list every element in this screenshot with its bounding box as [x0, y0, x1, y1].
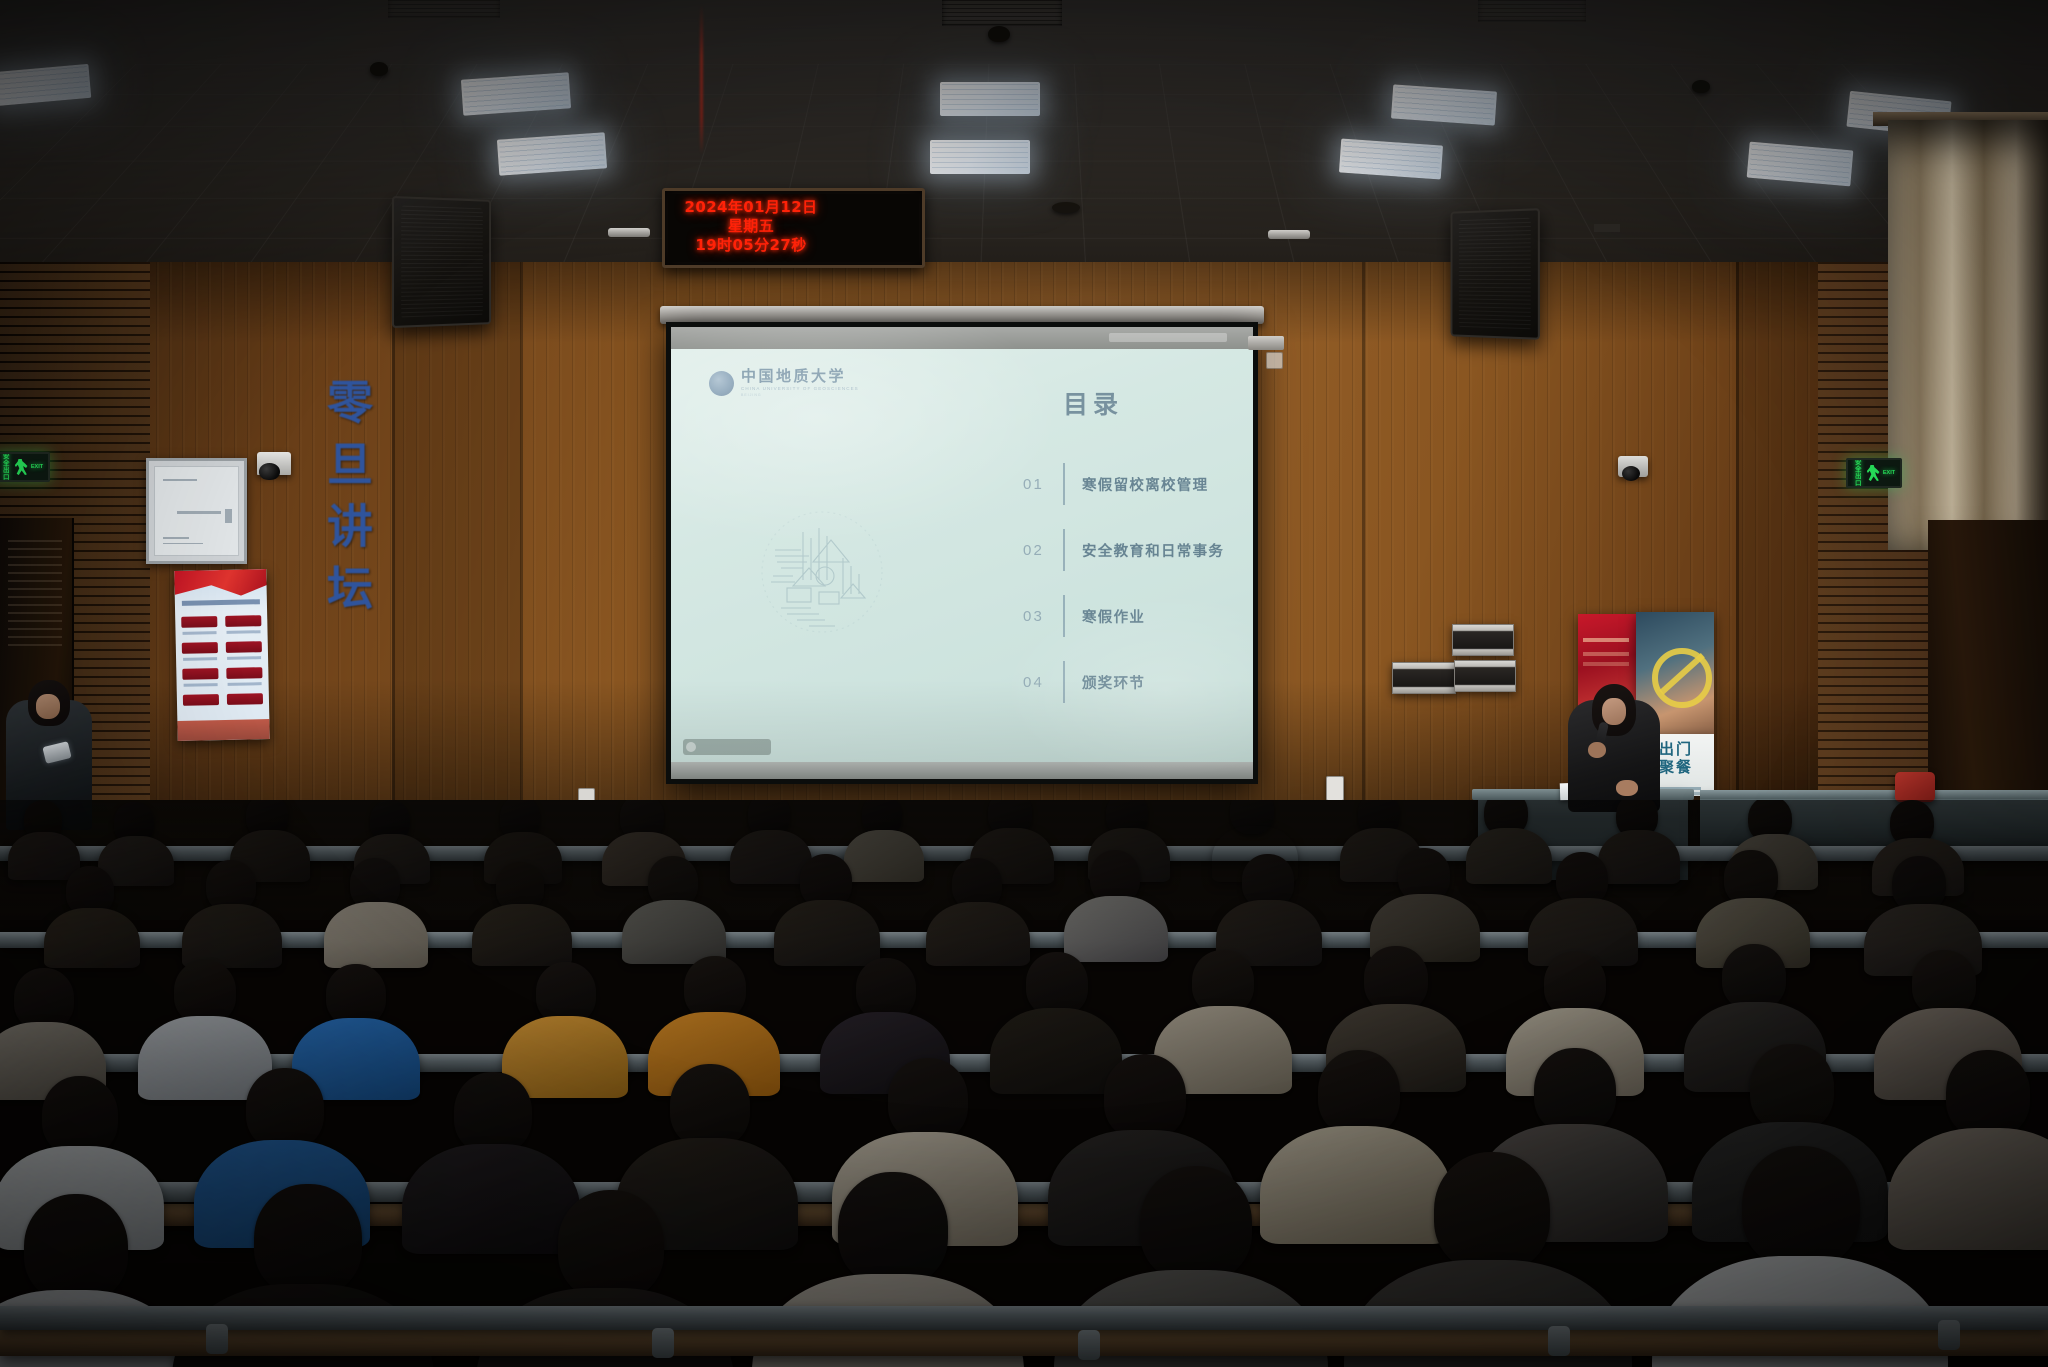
standing-person-face — [36, 694, 60, 719]
audience-head — [558, 1190, 664, 1300]
door-ventilation-grille — [8, 540, 62, 650]
led-line-time: 19时05分27秒 — [676, 236, 826, 255]
notice-text-line — [163, 543, 203, 544]
poster-red-flag-header — [174, 569, 267, 597]
audience-head — [24, 1194, 128, 1302]
led-clock-display: 2024年01月12日 星期五 19时05分27秒 — [662, 188, 925, 268]
toc-number: 03 — [1023, 608, 1057, 625]
notice-scrollbar — [225, 509, 232, 523]
wall-control-panel-upper[interactable] — [1452, 624, 1514, 656]
notice-board-inner — [154, 466, 239, 556]
ceiling-shading — [0, 0, 2048, 300]
poster-section-chip — [181, 616, 217, 628]
toc-number: 02 — [1023, 542, 1057, 559]
desk-row-e-front — [0, 1330, 2048, 1356]
toc-label: 寒假作业 — [1082, 606, 1145, 627]
wall-calligraphy-banner: 零旦讲坛 — [316, 378, 378, 626]
university-name-en-sub: BEIJING — [741, 394, 859, 398]
audience-shoulders — [324, 902, 428, 968]
toc-label: 安全教育和日常事务 — [1082, 540, 1224, 561]
slide-chrome-hint — [1109, 333, 1227, 342]
toc-label: 寒假留校离校管理 — [1082, 474, 1208, 495]
notice-text-line — [163, 537, 189, 539]
wall-speaker-left — [392, 196, 491, 328]
university-logo-text: 中国地质大学 CHINA UNIVERSITY OF GEOSCIENCES B… — [741, 369, 859, 397]
toc-item: 04 颁奖环节 — [1023, 649, 1233, 715]
poster-footer-band — [177, 719, 269, 741]
wall-seam — [1362, 262, 1365, 842]
audience-head — [1140, 1166, 1252, 1282]
slide-window-chrome — [671, 327, 1253, 349]
audience-head — [1742, 1146, 1860, 1268]
ceiling — [0, 0, 2048, 300]
projector-bracket — [1268, 230, 1310, 239]
led-line-weekday: 星期五 — [676, 217, 826, 236]
projector-bracket — [608, 228, 650, 237]
toc-divider — [1063, 595, 1065, 637]
university-name-cn: 中国地质大学 — [741, 369, 859, 384]
university-name-en: CHINA UNIVERSITY OF GEOSCIENCES — [741, 387, 859, 392]
prohibition-icon — [1652, 648, 1712, 708]
university-emblem-icon — [709, 371, 734, 396]
audience-head — [1026, 952, 1088, 1016]
slide-table-of-contents: 01 寒假留校离校管理 02 安全教育和日常事务 03 寒假作业 04 — [1023, 451, 1233, 715]
audience-head — [174, 960, 236, 1024]
slide-bottom-chrome — [671, 762, 1253, 779]
audience-shoulders — [990, 1008, 1122, 1094]
led-line-date: 2024年01月12日 — [676, 198, 826, 217]
audience-head — [454, 1072, 532, 1154]
audience-shoulders — [472, 904, 572, 966]
wall-seam — [520, 262, 523, 842]
toc-divider — [1063, 463, 1065, 505]
poster-body-line — [228, 682, 262, 686]
audience-shoulders — [402, 1144, 580, 1254]
wall-light-switch[interactable] — [1326, 776, 1344, 801]
presentation-slide: 中国地质大学 CHINA UNIVERSITY OF GEOSCIENCES B… — [671, 327, 1253, 779]
audience-shoulders — [182, 904, 282, 968]
toc-divider — [1063, 661, 1065, 703]
exit-sign-left: 安全出口 EXIT — [0, 452, 50, 482]
audience-shoulders — [622, 900, 726, 964]
exit-sign-label-en: EXIT — [31, 464, 43, 470]
notice-text-line — [163, 479, 197, 481]
presenter-hand-on-papers — [1616, 780, 1638, 796]
audience-head — [1534, 1048, 1616, 1134]
exit-sign-label-cn: 安全出口 — [1, 453, 12, 481]
wall-notice-board — [146, 458, 247, 564]
audience-head — [1912, 950, 1976, 1016]
wall-outlet[interactable] — [1266, 352, 1283, 369]
toc-number: 04 — [1023, 674, 1057, 691]
poster-section-chip — [182, 668, 218, 680]
toc-item: 01 寒假留校离校管理 — [1023, 451, 1233, 517]
audience-head — [1318, 1050, 1400, 1136]
poster-title-bar — [182, 599, 260, 606]
notice-text-line — [177, 511, 221, 514]
audience-head — [1192, 950, 1254, 1014]
wall-panel-shade — [392, 262, 520, 842]
poster-body-line — [183, 631, 217, 635]
poster-body-line — [226, 630, 260, 634]
audience-head — [670, 1064, 750, 1148]
poster-section-chip — [227, 693, 263, 705]
window-curtain — [1888, 120, 2048, 550]
led-screen-face: 2024年01月12日 星期五 19时05分27秒 — [668, 194, 919, 262]
seat-bracket — [652, 1328, 674, 1358]
poster-body-line — [227, 656, 261, 660]
audience-shoulders — [1466, 828, 1552, 884]
poster-body-line — [183, 657, 217, 661]
red-bag-on-bench — [1895, 772, 1935, 802]
projector-ceiling-mount — [1248, 336, 1284, 350]
wall-control-panel-lower-left[interactable] — [1392, 662, 1456, 694]
wall-poster-left — [174, 569, 270, 741]
audience-shoulders — [8, 832, 80, 880]
lecture-hall-photo: 2024年01月12日 星期五 19时05分27秒 中国地质大学 CHINA U… — [0, 0, 2048, 1367]
university-logo: 中国地质大学 CHINA UNIVERSITY OF GEOSCIENCES B… — [709, 369, 859, 397]
poster-section-chip — [226, 641, 262, 653]
audience-head — [856, 958, 916, 1020]
presenter-hand-holding-mic — [1588, 742, 1606, 758]
audience-head — [1364, 946, 1428, 1012]
toc-label: 颁奖环节 — [1082, 672, 1145, 693]
audience-head — [536, 962, 596, 1024]
audience-shoulders — [44, 908, 140, 968]
audience-shoulders — [1064, 896, 1168, 962]
front-bench-right-top — [1700, 790, 2048, 799]
wall-control-panel-lower-right[interactable] — [1454, 660, 1516, 692]
toc-item: 02 安全教育和日常事务 — [1023, 517, 1233, 583]
audience-head — [1544, 952, 1606, 1016]
poster-section-chip — [183, 694, 219, 706]
slide-decorative-illustration — [757, 502, 887, 642]
audience-head — [254, 1184, 362, 1296]
audience-head — [1750, 1044, 1834, 1132]
toc-divider — [1063, 529, 1065, 571]
security-camera-right — [1618, 456, 1648, 477]
audience-shoulders — [1888, 1128, 2048, 1250]
audience-shoulders — [926, 902, 1030, 966]
audience-shoulders — [844, 830, 924, 882]
poster-body-line — [184, 683, 218, 687]
seat-bracket — [1078, 1330, 1100, 1360]
audience-head — [246, 1068, 324, 1150]
audience-head — [838, 1172, 948, 1286]
running-man-icon — [1867, 465, 1880, 481]
running-man-icon — [15, 459, 28, 475]
audience-shoulders — [1260, 1126, 1452, 1244]
toc-item: 03 寒假作业 — [1023, 583, 1233, 649]
seat-bracket — [1938, 1320, 1960, 1350]
audience-head — [1946, 1050, 2030, 1138]
audience-head — [326, 964, 386, 1026]
security-camera-left — [257, 452, 291, 475]
presenter-face — [1602, 698, 1626, 725]
bench-row-e — [0, 1306, 2048, 1330]
seat-bracket — [1548, 1326, 1570, 1356]
poster-section-chip — [226, 667, 262, 679]
audience-shoulders — [774, 900, 880, 966]
toc-number: 01 — [1023, 476, 1057, 493]
audience-head — [888, 1058, 968, 1142]
audience-seating: DORAEMON Richmond — [0, 800, 2048, 1367]
speaker-bracket — [1594, 224, 1620, 232]
poster-section-chip — [182, 642, 218, 654]
audience-head — [684, 956, 746, 1020]
exit-sign-label-cn: 安全出口 — [1853, 459, 1864, 487]
projection-screen[interactable]: 中国地质大学 CHINA UNIVERSITY OF GEOSCIENCES B… — [666, 322, 1258, 784]
audience-head — [1434, 1152, 1550, 1272]
audience-head — [1104, 1054, 1186, 1140]
exit-sign-label-en: EXIT — [1883, 470, 1895, 476]
seat-bracket — [206, 1324, 228, 1354]
audience-head — [14, 968, 74, 1030]
audience-shoulders — [1598, 830, 1680, 884]
wall-speaker-right — [1451, 208, 1540, 340]
slide-title: 目录 — [1063, 385, 1183, 421]
audience-head — [42, 1076, 118, 1156]
audience-head — [1722, 944, 1786, 1010]
exit-sign-right: 安全出口 EXIT — [1846, 458, 1902, 488]
slide-taskbar-chip — [683, 739, 771, 755]
poster-section-chip — [225, 615, 261, 627]
